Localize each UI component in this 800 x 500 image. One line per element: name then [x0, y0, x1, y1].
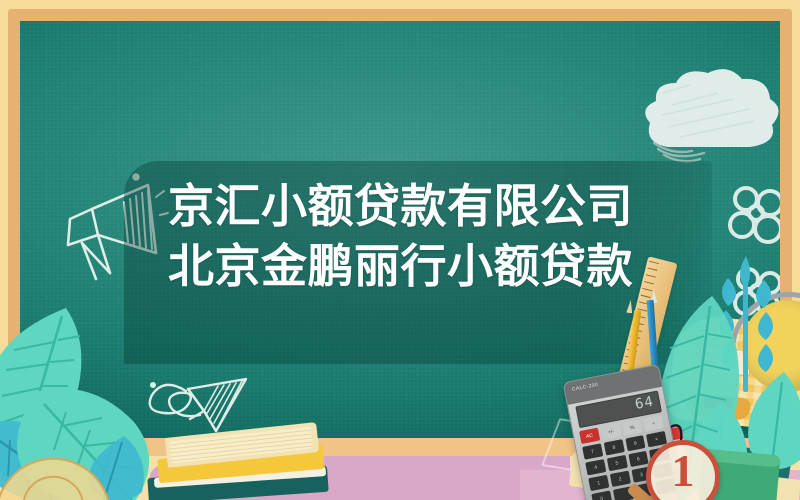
magnifying-glass: 1	[646, 440, 720, 500]
protractor-inner-arc	[19, 472, 85, 500]
calculator-key[interactable]: 5	[607, 455, 628, 471]
magnifier-number: 1	[646, 444, 720, 497]
calculator-key[interactable]: 2	[610, 471, 631, 487]
calculator-key[interactable]: AC	[579, 428, 600, 444]
calculator-key[interactable]: 9	[625, 435, 646, 451]
calculator-key[interactable]: ÷	[643, 415, 664, 431]
calculator-key[interactable]: 7	[582, 443, 603, 459]
calculator-key[interactable]: 8	[604, 439, 625, 455]
page-title: 京汇小额贷款有限公司 北京金鹏丽行小额贷款	[168, 176, 688, 296]
calculator-key[interactable]: 1	[588, 475, 609, 491]
calculator-display-value: 64	[634, 394, 656, 413]
calculator-key[interactable]: 4	[585, 459, 606, 475]
cover-image: 京汇小额贷款有限公司 北京金鹏丽行小额贷款	[0, 0, 800, 500]
calculator-key[interactable]: 0	[591, 491, 612, 500]
book-stack-left	[140, 422, 440, 500]
calculator-brand: CALC-200	[571, 382, 598, 393]
calculator-key[interactable]: +/-	[600, 424, 621, 440]
calculator-key[interactable]: %	[622, 419, 643, 435]
